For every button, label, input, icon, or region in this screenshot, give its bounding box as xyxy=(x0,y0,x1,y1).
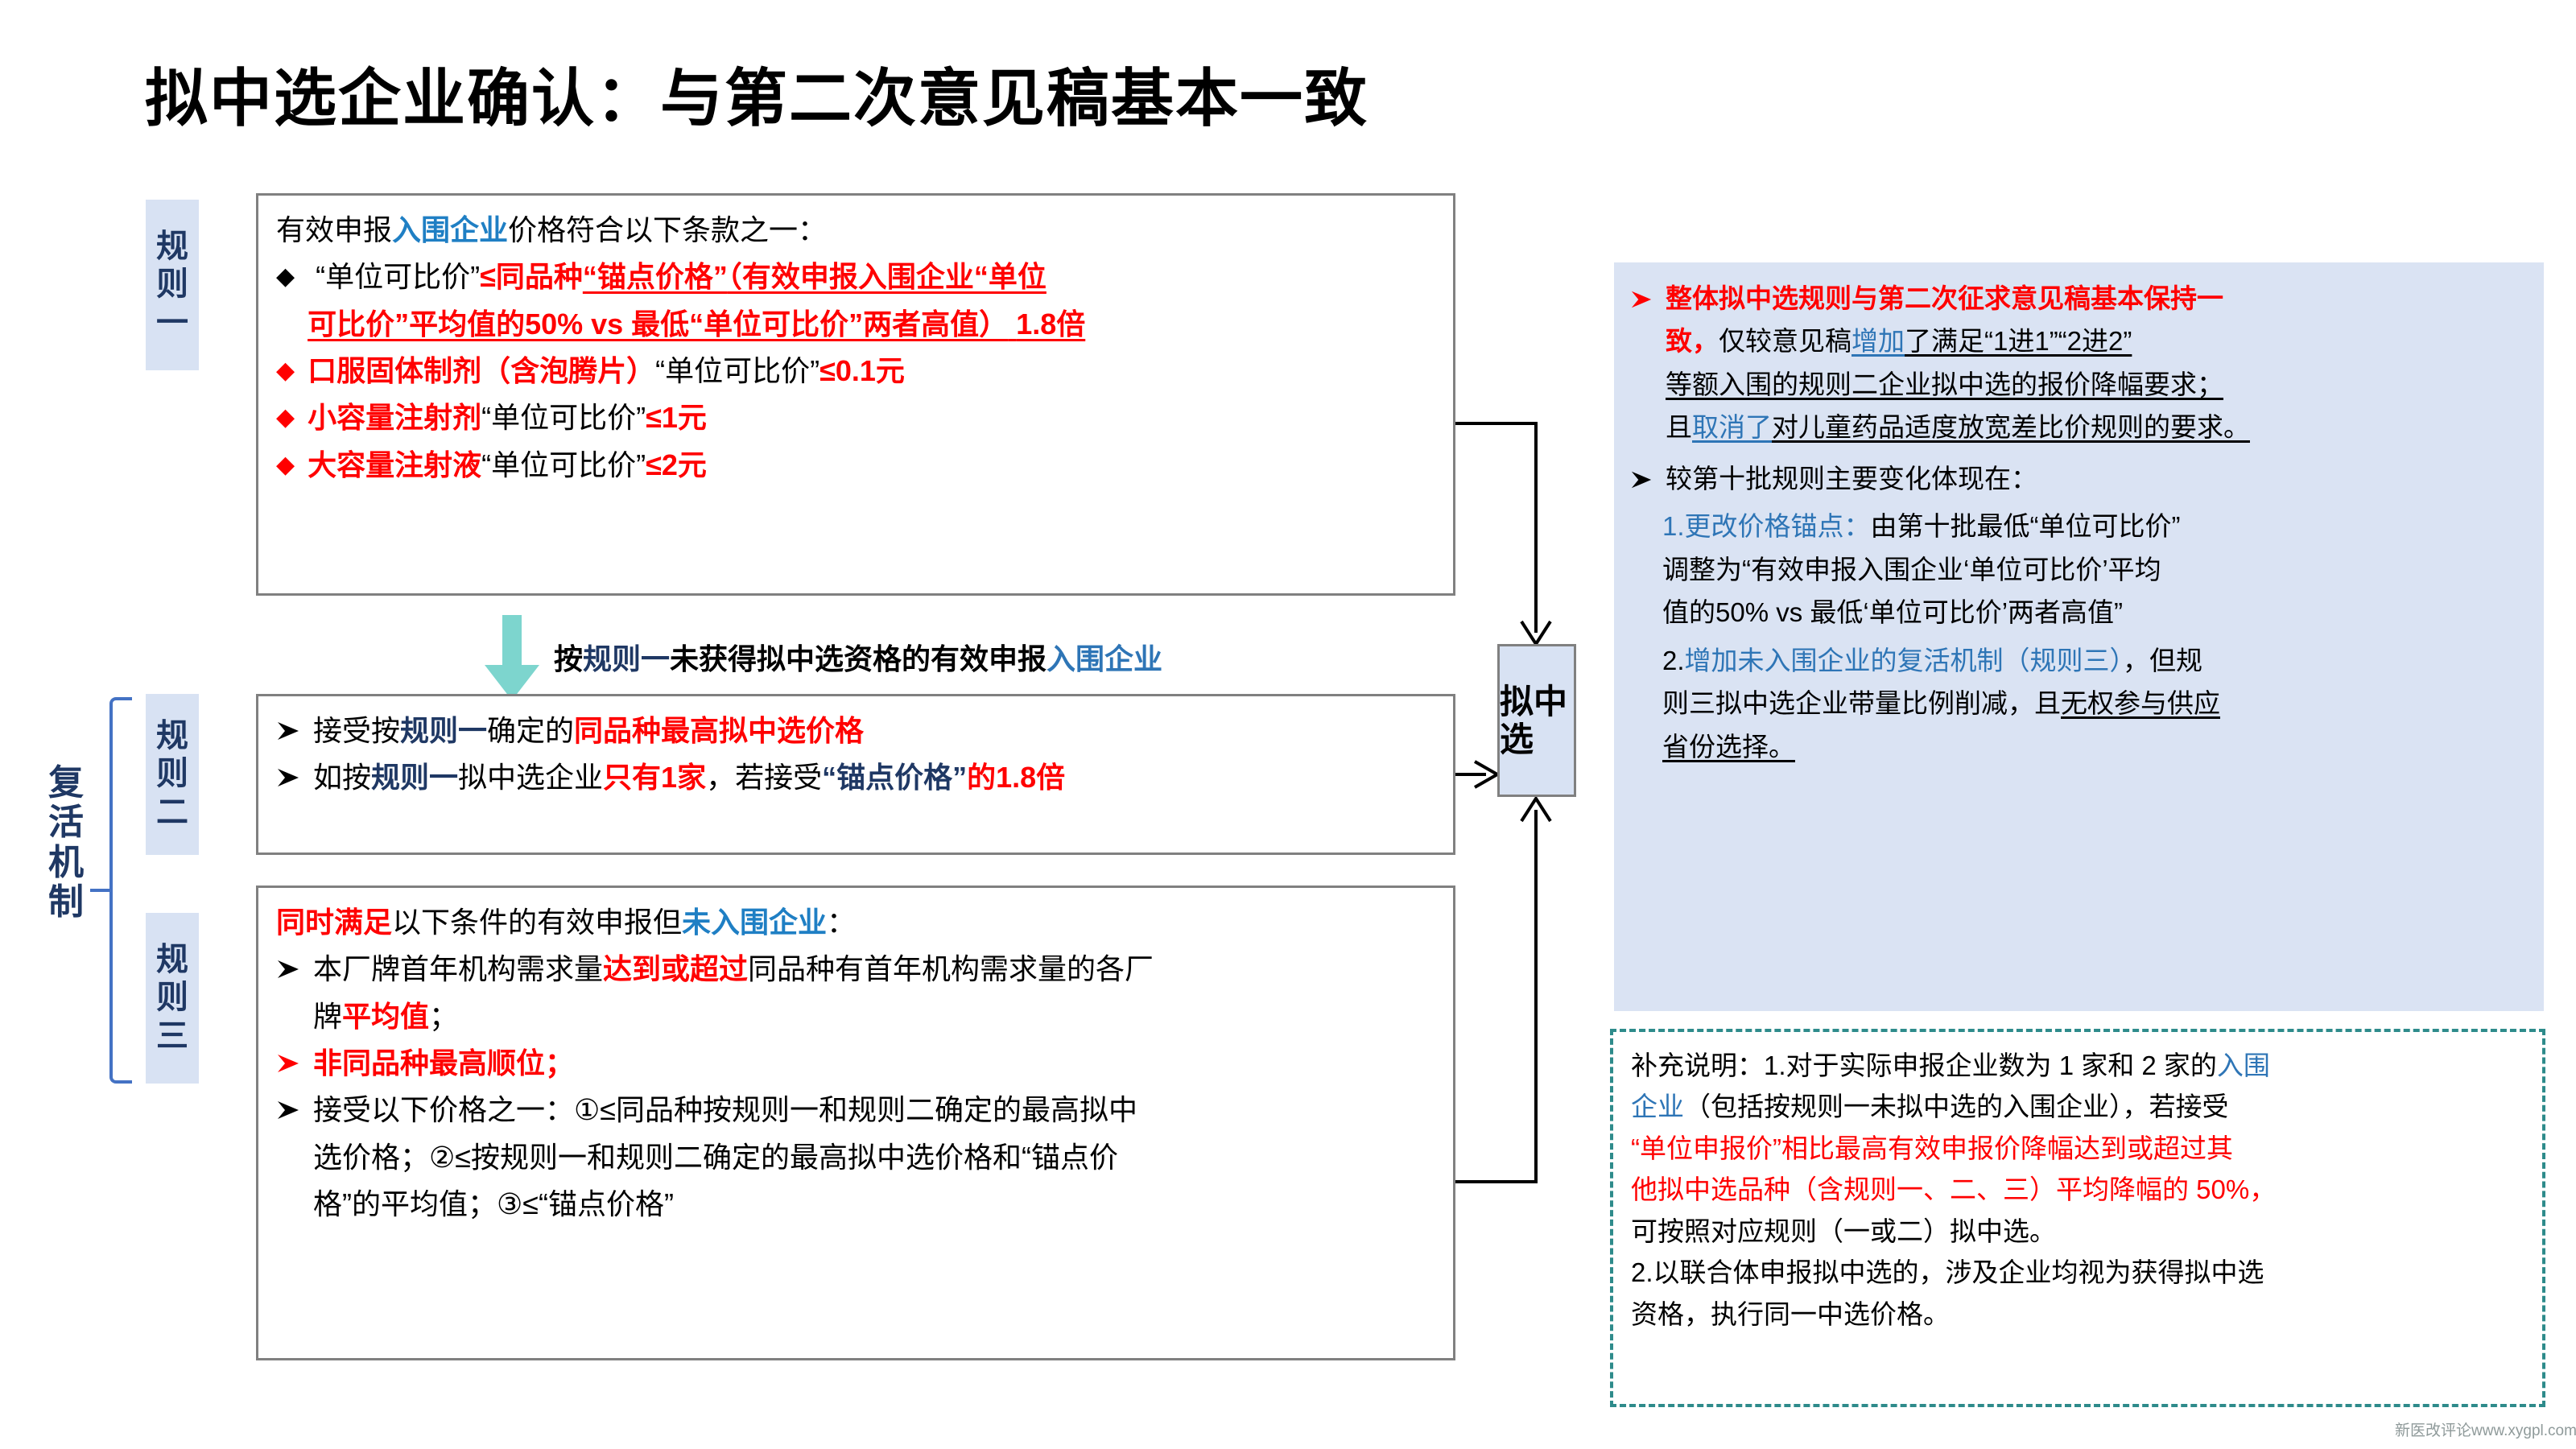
b3-seg-c: ≤1元 xyxy=(646,401,707,434)
n4: （包括按规则一未拟中选的入围企业），若接受 xyxy=(1684,1092,2229,1121)
s1e: 了满足“1进1”“2进2” xyxy=(1905,326,2132,356)
s1h: 取消了 xyxy=(1692,412,1772,442)
summary-item-2-text: 较第十批规则主要变化体现在： xyxy=(1666,457,2037,500)
chevron-right-icon xyxy=(1630,288,1654,312)
watermark: 新医改评论www.xygpl.com xyxy=(2395,1418,2576,1440)
rule-tag-three: 规则三 xyxy=(146,913,199,1084)
chevron-right-icon xyxy=(276,719,300,743)
summary-item-1-text: 整体拟中选规则与第二次征求意见稿基本保持一 致，仅较意见稿增加了满足“1进1”“… xyxy=(1666,277,2250,449)
chevron-right-icon xyxy=(276,766,300,790)
selected-node: 拟中选 xyxy=(1497,644,1576,797)
b3-seg-b: “单位可比价” xyxy=(481,401,646,434)
rule-three-box: 同时满足以下条件的有效申报但未入围企业： 本厂牌首年机构需求量达到或超过同品种有… xyxy=(256,885,1455,1360)
diamond-bullet-icon: ◆ xyxy=(276,394,295,440)
b1-seg-f: 1.8倍 xyxy=(1016,308,1085,341)
b3-seg-a: 小容量注射剂 xyxy=(308,401,481,434)
b2-seg-a: 口服固体制剂（含泡腾片） xyxy=(308,354,655,387)
note-line-7: 资格，执行同一中选价格。 xyxy=(1631,1294,2524,1335)
n3: 企业 xyxy=(1631,1092,1684,1121)
s1f: 等额入围的规则二企业拟中选的报价降幅要求； xyxy=(1666,369,2223,399)
r3h: 选价格；②≤按规则一和规则二确定的最高拟中选价格和“锚点价 xyxy=(313,1141,1118,1174)
r2b: 规则一 xyxy=(400,714,487,747)
rule-one-bullet-4-text: 大容量注射液“单位可比价”≤2元 xyxy=(308,442,707,489)
r2i: ，若接受 xyxy=(706,761,822,794)
b1-seg-c: “锚点价格” xyxy=(583,260,728,293)
heading-part-c: 价格符合以下条款之一： xyxy=(508,213,827,246)
s3f: 省份选择。 xyxy=(1662,732,1795,762)
rule-two-item-2-text: 如按规则一拟中选企业只有1家，若接受“锚点价格”的1.8倍 xyxy=(313,754,1065,801)
note-line-5: 可按照对应规则（一或二）拟中选。 xyxy=(1631,1211,2524,1252)
rule-one-heading: 有效申报入围企业价格符合以下条款之一： xyxy=(276,207,1435,254)
r2a: 接受按 xyxy=(313,714,400,747)
slide-canvas: 拟中选企业确认：与第二次意见稿基本一致 规则一 有效申报入围企业价格符合以下条款… xyxy=(0,0,2576,1449)
rule-one-box: 有效申报入围企业价格符合以下条款之一： ◆ “单位可比价”≤同品种“锚点价格”（… xyxy=(256,193,1455,596)
note-line-4: 他拟中选品种（含规则一、二、三）平均降幅的 50%， xyxy=(1631,1169,2524,1210)
s3c: ，但规 xyxy=(2123,646,2202,675)
s3d: 则三拟中选企业带量比例削减，且 xyxy=(1662,688,2061,718)
heading-part-b: 入围企业 xyxy=(392,213,508,246)
revival-bracket-stem xyxy=(90,889,113,892)
r2j: “锚点价格” xyxy=(822,761,967,794)
s1g: 且 xyxy=(1666,412,1692,442)
s3e: 无权参与供应 xyxy=(2061,688,2220,718)
note-line-2: 企业（包括按规则一未拟中选的入围企业），若接受 xyxy=(1631,1086,2524,1127)
chevron-right-icon xyxy=(276,957,300,981)
b1-seg-b: ≤同品种 xyxy=(480,260,583,293)
s1i: 对儿童药品适度放宽差比价规则的要求。 xyxy=(1772,412,2250,442)
diamond-bullet-icon: ◆ xyxy=(276,254,295,299)
r3f: ； xyxy=(429,1000,458,1033)
b4-seg-a: 大容量注射液 xyxy=(308,448,481,481)
r2c: 确定的 xyxy=(487,714,574,747)
rule-three-item-2: 非同品种最高顺位； xyxy=(276,1040,1435,1087)
s3a: 2. xyxy=(1662,646,1685,675)
r3h-c: 未入围企业 xyxy=(682,906,827,939)
revival-mechanism-label: 复活机制 xyxy=(42,763,90,922)
note-line-6: 2.以联合体申报拟中选的，涉及企业均视为获得拟中选 xyxy=(1631,1252,2524,1293)
chevron-right-icon xyxy=(1630,469,1654,493)
rule-two-item-2: 如按规则一拟中选企业只有1家，若接受“锚点价格”的1.8倍 xyxy=(276,754,1435,801)
rule-one-bullet-1-text: “单位可比价”≤同品种“锚点价格”（有效申报入围企业“单位 可比价”平均值的50… xyxy=(308,254,1085,348)
r3h-a: 同时满足 xyxy=(276,906,392,939)
b4-seg-b: “单位可比价” xyxy=(481,448,646,481)
bridge-seg-c: 未获得拟中选资格的有效申报 xyxy=(670,642,1046,675)
rule-one-bullet-3: ◆ 小容量注射剂“单位可比价”≤1元 xyxy=(276,394,1435,441)
s3b: 增加未入围企业的复活机制（规则三） xyxy=(1685,646,2124,675)
r3c: 同品种有首年机构需求量的各厂 xyxy=(748,952,1154,985)
b1-seg-a: “单位可比价” xyxy=(316,260,480,293)
diamond-bullet-icon: ◆ xyxy=(276,348,295,394)
r3h-d: ： xyxy=(827,906,856,939)
rule-tag-one: 规则一 xyxy=(146,200,199,370)
rule-tag-two-label: 规则二 xyxy=(146,717,199,832)
r2h: 只有1家 xyxy=(603,761,706,794)
summary-item-1: 整体拟中选规则与第二次征求意见稿基本保持一 致，仅较意见稿增加了满足“1进1”“… xyxy=(1630,277,2528,449)
r3h-b: 以下条件的有效申报但 xyxy=(392,906,682,939)
summary-item-2: 较第十批规则主要变化体现在： xyxy=(1630,457,2528,500)
down-arrow-icon xyxy=(483,615,541,706)
r2g: 拟中选企业 xyxy=(458,761,603,794)
b2-seg-c: ≤0.1元 xyxy=(819,354,905,387)
r2d: 同品种最高拟中选价格 xyxy=(574,714,864,747)
rule-tag-two: 规则二 xyxy=(146,694,199,855)
b1-seg-d: （有效申报入围企业“单位 xyxy=(728,260,1046,293)
r3i: 格”的平均值；③≤“锚点价格” xyxy=(313,1187,674,1220)
rule-one-bullet-1: ◆ “单位可比价”≤同品种“锚点价格”（有效申报入围企业“单位 可比价”平均值的… xyxy=(276,254,1435,348)
r2e: 如按 xyxy=(313,761,371,794)
rule-tag-one-char-1: 规则一 xyxy=(146,228,199,342)
rule-one-bullet-2-text: 口服固体制剂（含泡腾片）“单位可比价”≤0.1元 xyxy=(308,348,905,394)
rule-three-item-3-text: 接受以下价格之一：①≤同品种按规则一和规则二确定的最高拟中 选价格；②≤按规则一… xyxy=(313,1087,1137,1228)
s2a: 1.更改价格锚点： xyxy=(1662,511,1871,541)
diamond-bullet-icon: ◆ xyxy=(276,442,295,488)
b4-seg-c: ≤2元 xyxy=(646,448,707,481)
s2c: 调整为“有效申报入围企业‘单位可比价’平均 xyxy=(1662,555,2161,584)
bridge-caption: 按规则一未获得拟中选资格的有效申报入围企业 xyxy=(554,636,1162,678)
rule-three-item-1-text: 本厂牌首年机构需求量达到或超过同品种有首年机构需求量的各厂 牌平均值； xyxy=(313,946,1154,1040)
r2k: 的1.8倍 xyxy=(967,761,1065,794)
rule-tag-three-label: 规则三 xyxy=(146,941,199,1055)
r3d: 牌 xyxy=(313,1000,342,1033)
bridge-seg-b: 规则一 xyxy=(583,642,670,675)
r3g: 接受以下价格之一：①≤同品种按规则一和规则二确定的最高拟中 xyxy=(313,1093,1137,1126)
s2b: 由第十批最低“单位可比价” xyxy=(1871,511,2181,541)
rule-two-box: 接受按规则一确定的同品种最高拟中选价格 如按规则一拟中选企业只有1家，若接受“锚… xyxy=(256,694,1455,855)
r2f: 规则一 xyxy=(371,761,458,794)
rule-one-bullet-2: ◆ 口服固体制剂（含泡腾片）“单位可比价”≤0.1元 xyxy=(276,348,1435,394)
rule-two-item-1-text: 接受按规则一确定的同品种最高拟中选价格 xyxy=(313,708,864,754)
supplementary-note-box: 补充说明：1.对于实际申报企业数为 1 家和 2 家的入围 企业（包括按规则一未… xyxy=(1610,1029,2545,1407)
b2-seg-b: “单位可比价” xyxy=(655,354,819,387)
revival-bracket xyxy=(109,697,132,1084)
note-line-3: “单位申报价”相比最高有效申报价降幅达到或超过其 xyxy=(1631,1128,2524,1169)
r3e: 平均值 xyxy=(342,1000,429,1033)
summary-panel: 整体拟中选规则与第二次征求意见稿基本保持一 致，仅较意见稿增加了满足“1进1”“… xyxy=(1614,262,2544,1011)
heading-part-a: 有效申报 xyxy=(276,213,392,246)
rule-three-item-1: 本厂牌首年机构需求量达到或超过同品种有首年机构需求量的各厂 牌平均值； xyxy=(276,946,1435,1040)
rule-three-item-3: 接受以下价格之一：①≤同品种按规则一和规则二确定的最高拟中 选价格；②≤按规则一… xyxy=(276,1087,1435,1228)
summary-point-1: 1.更改价格锚点：由第十批最低“单位可比价” 调整为“有效申报入围企业‘单位可比… xyxy=(1630,505,2528,634)
bridge-seg-d: 入围企业 xyxy=(1046,642,1162,675)
rule-three-heading: 同时满足以下条件的有效申报但未入围企业： xyxy=(276,899,1435,946)
rule-three-item-2-text: 非同品种最高顺位； xyxy=(313,1040,574,1087)
s1d: 增加 xyxy=(1851,326,1905,356)
summary-point-2: 2.增加未入围企业的复活机制（规则三），但规 则三拟中选企业带量比例削减，且无权… xyxy=(1630,639,2528,768)
n2: 入围 xyxy=(2217,1051,2270,1080)
r3b: 达到或超过 xyxy=(603,952,748,985)
rule-one-bullet-3-text: 小容量注射剂“单位可比价”≤1元 xyxy=(308,394,707,441)
rule-one-bullet-4: ◆ 大容量注射液“单位可比价”≤2元 xyxy=(276,442,1435,489)
chevron-right-icon xyxy=(276,1098,300,1122)
bridge-seg-a: 按 xyxy=(554,642,583,675)
s1b: 致， xyxy=(1666,326,1719,356)
s1a: 整体拟中选规则与第二次征求意见稿基本保持一 xyxy=(1666,283,2223,313)
r3a: 本厂牌首年机构需求量 xyxy=(313,952,603,985)
note-line-1: 补充说明：1.对于实际申报企业数为 1 家和 2 家的入围 xyxy=(1631,1045,2524,1086)
s2d: 值的50% vs 最低‘单位可比价’两者高值” xyxy=(1662,597,2123,627)
b1-seg-e: 可比价”平均值的50% vs 最低“单位可比价”两者高值） xyxy=(308,308,1008,341)
chevron-right-icon xyxy=(276,1051,300,1075)
rule-two-item-1: 接受按规则一确定的同品种最高拟中选价格 xyxy=(276,708,1435,754)
s1c: 仅较意见稿 xyxy=(1719,326,1851,356)
n1: 补充说明：1.对于实际申报企业数为 1 家和 2 家的 xyxy=(1631,1051,2217,1080)
